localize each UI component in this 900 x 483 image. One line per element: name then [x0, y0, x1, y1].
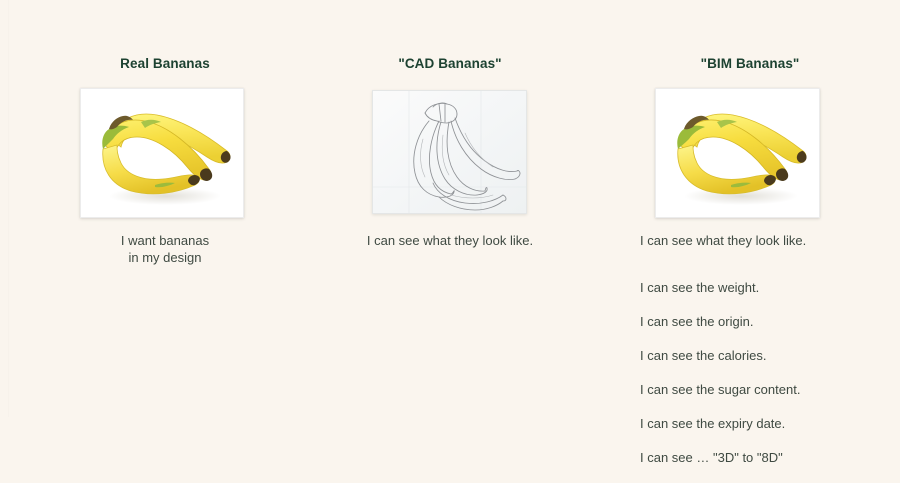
- caption-bim-lead: I can see what they look like.: [640, 232, 885, 249]
- column-cad-bananas: "CAD Bananas": [330, 0, 570, 417]
- list-item: I can see … "3D" to "8D": [640, 449, 885, 466]
- heading-real-bananas: Real Bananas: [40, 56, 290, 71]
- column-real-bananas: Real Bananas: [40, 0, 290, 417]
- image-real-bananas: [80, 88, 244, 218]
- caption-bim-list: I can see the weight. I can see the orig…: [640, 262, 885, 483]
- list-item: I can see the calories.: [640, 347, 885, 364]
- background-seam: [8, 0, 9, 417]
- image-bim-bananas: [655, 88, 820, 218]
- heading-bim-bananas: "BIM Bananas": [615, 56, 885, 71]
- caption-real-bananas: I want bananas in my design: [40, 232, 290, 266]
- list-item: I can see the expiry date.: [640, 415, 885, 432]
- image-cad-bananas: [372, 90, 527, 214]
- list-item: I can see the weight.: [640, 279, 885, 296]
- list-item: I can see the sugar content.: [640, 381, 885, 398]
- heading-cad-bananas: "CAD Bananas": [330, 56, 570, 71]
- column-bim-bananas: "BIM Bananas": [615, 0, 885, 417]
- list-item: I can see the origin.: [640, 313, 885, 330]
- caption-cad-bananas: I can see what they look like.: [330, 232, 570, 249]
